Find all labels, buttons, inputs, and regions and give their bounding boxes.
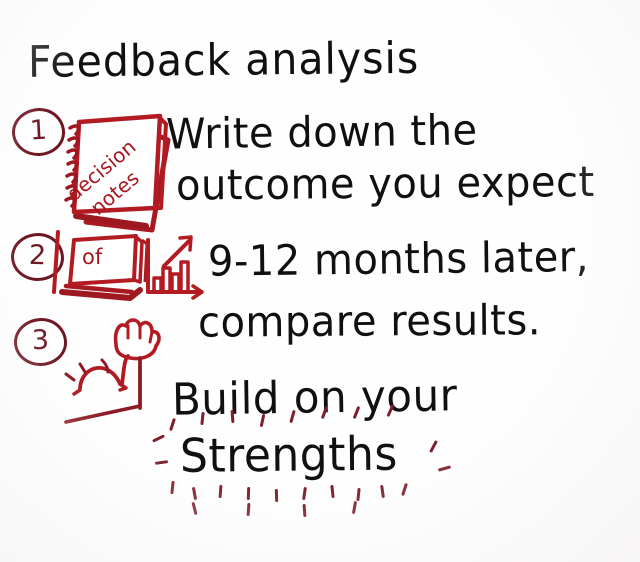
document-stack-bar-chart-icon: of bbox=[52, 230, 212, 319]
whiteboard-sketch: Feedback analysis 1 decision notes Write… bbox=[0, 0, 640, 562]
step-2-text-line-2: compare results. bbox=[198, 296, 541, 347]
document-label: of bbox=[82, 245, 103, 269]
step-1-text-line-1: Write down the bbox=[166, 107, 478, 160]
page-title: Feedback analysis bbox=[28, 32, 420, 87]
step-1-text-line-2: outcome you expect bbox=[176, 158, 595, 210]
step-2-text-line-1: 9-12 months later, bbox=[208, 233, 590, 286]
step-3-text-line-2: Strengths bbox=[180, 427, 398, 483]
spiral-notebook-icon: decision notes bbox=[56, 104, 181, 238]
flexed-arm-muscle-icon bbox=[58, 312, 188, 431]
step-3-text-line-1: Build on your bbox=[172, 369, 458, 425]
